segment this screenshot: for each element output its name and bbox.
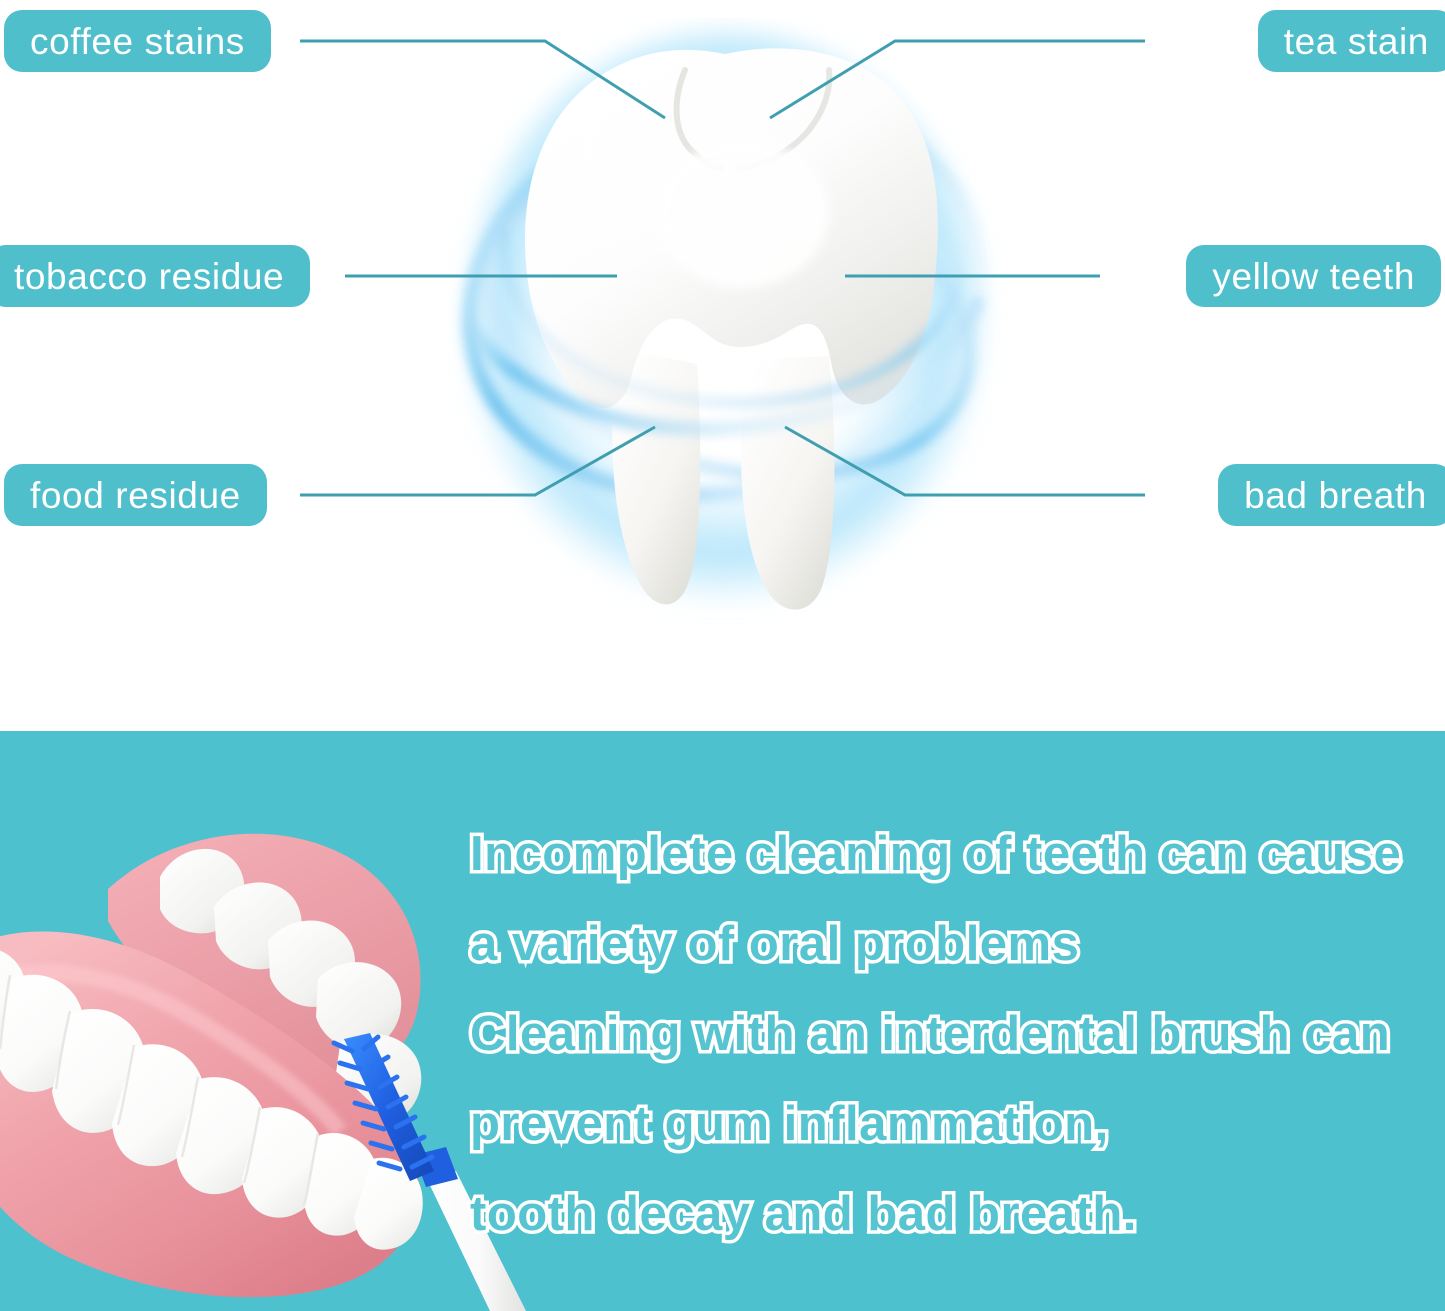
label-text-coffee-stains: coffee stains	[30, 23, 245, 60]
label-text-food-residue: food residue	[30, 477, 241, 514]
label-chip-yellow-teeth: yellow teeth	[1186, 245, 1441, 307]
label-chip-tobacco-residue: tobacco residue	[0, 245, 310, 307]
tooth-illustration	[385, 18, 1065, 678]
promo-message: Incomplete cleaning of teeth can cause a…	[470, 809, 1430, 1259]
infographic-page: coffee stains tea stain tobacco residue …	[0, 0, 1445, 1311]
promo-panel: Incomplete cleaning of teeth can cause a…	[0, 731, 1445, 1311]
label-chip-coffee-stains: coffee stains	[4, 10, 271, 72]
promo-line-3: Cleaning with an interdental brush can	[470, 989, 1430, 1079]
label-text-yellow-teeth: yellow teeth	[1212, 258, 1415, 295]
tooth-diagram-panel: coffee stains tea stain tobacco residue …	[0, 0, 1445, 731]
label-chip-bad-breath: bad breath	[1218, 464, 1445, 526]
promo-line-5: tooth decay and bad breath.	[470, 1169, 1430, 1259]
label-text-tea-stain: tea stain	[1284, 23, 1429, 60]
promo-line-1: Incomplete cleaning of teeth can cause	[470, 809, 1430, 899]
label-text-tobacco-residue: tobacco residue	[14, 258, 284, 295]
brush-bristles	[334, 1033, 434, 1181]
promo-line-2: a variety of oral problems	[470, 899, 1430, 989]
label-chip-food-residue: food residue	[4, 464, 267, 526]
label-text-bad-breath: bad breath	[1244, 477, 1427, 514]
label-chip-tea-stain: tea stain	[1258, 10, 1445, 72]
promo-line-4: prevent gum inflammation,	[470, 1079, 1430, 1169]
